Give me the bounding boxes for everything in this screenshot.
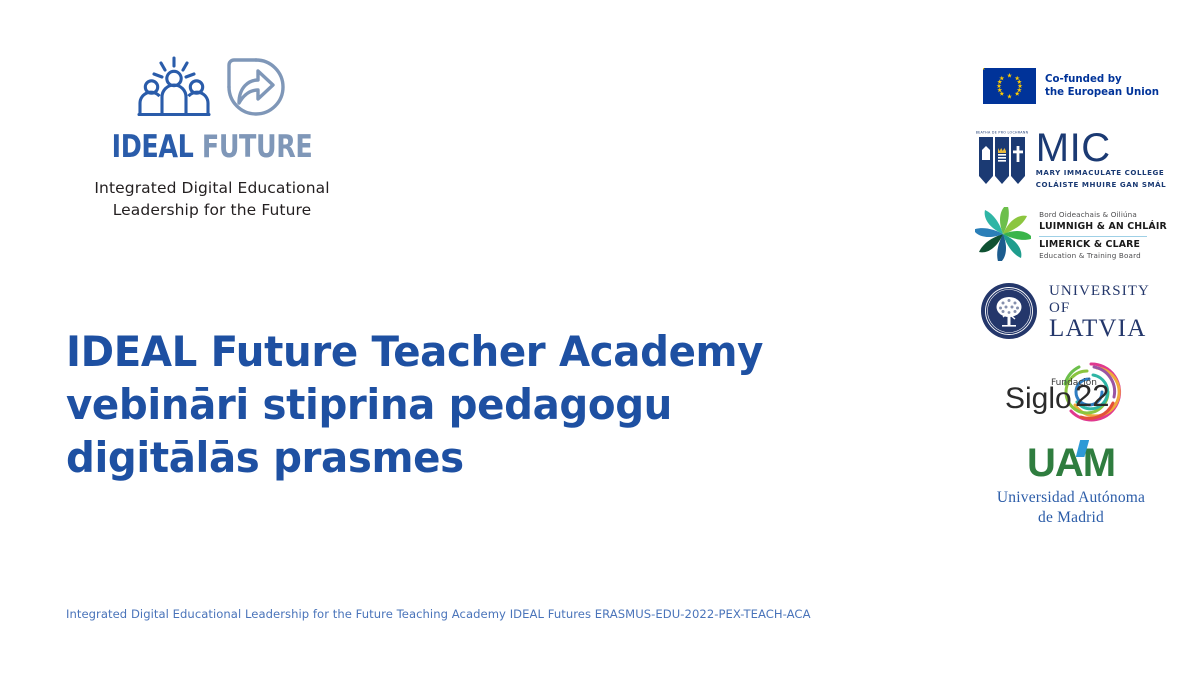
etb-line-ga-small: Bord Oideachais & Oiliúna bbox=[1039, 210, 1137, 221]
siglo-word-number: 22 bbox=[1075, 378, 1109, 413]
etb-line-en-small: Education & Training Board bbox=[1039, 251, 1141, 262]
logo-university-of-latvia: UNIVERSITAS LATVIENSIS SCIENTIAE ET PATR… bbox=[980, 282, 1162, 344]
svg-text:BEATHA DE PRO LOCHRANN: BEATHA DE PRO LOCHRANN bbox=[976, 130, 1028, 134]
people-idea-icon bbox=[137, 56, 211, 123]
logo-mary-immaculate-college: BEATHA DE PRO LOCHRANN bbox=[980, 128, 1162, 192]
eu-text-line2: the European Union bbox=[1045, 86, 1159, 99]
footer-project-reference: Integrated Digital Educational Leadershi… bbox=[66, 607, 811, 621]
latvia-line2: LATVIA bbox=[1049, 316, 1146, 342]
etb-divider bbox=[1039, 236, 1147, 237]
brand-tagline-line2: Leadership for the Future bbox=[62, 199, 362, 221]
latvia-text-block: UNIVERSITY OF LATVIA bbox=[1049, 283, 1162, 342]
uam-subtitle-line1: Universidad Autónoma bbox=[997, 488, 1145, 508]
siglo-word-main: Siglo bbox=[1005, 382, 1072, 415]
project-brand-block: IDEAL FUTURE Integrated Digital Educatio… bbox=[62, 52, 362, 222]
uam-subtitle-line2: de Madrid bbox=[997, 508, 1145, 528]
mic-letters: MIC bbox=[1036, 131, 1111, 166]
etb-text-block: Bord Oideachais & Oiliúna LUIMNIGH & AN … bbox=[1039, 210, 1167, 262]
brand-icon-group bbox=[62, 52, 362, 126]
latvia-line1: UNIVERSITY OF bbox=[1049, 283, 1162, 316]
brand-tagline: Integrated Digital Educational Leadershi… bbox=[62, 177, 362, 222]
uam-letters: UAM bbox=[1027, 443, 1115, 483]
eu-text-line1: Co-funded by bbox=[1045, 73, 1159, 86]
latvia-seal-icon: UNIVERSITAS LATVIENSIS SCIENTIAE ET PATR… bbox=[980, 282, 1038, 345]
brand-tagline-line1: Integrated Digital Educational bbox=[62, 177, 362, 199]
brand-wordmark-primary: IDEAL bbox=[112, 129, 194, 165]
share-arrow-icon bbox=[225, 56, 287, 123]
mic-subtitle-ga: COLÁISTE MHUIRE GAN SMÁL bbox=[1036, 180, 1166, 190]
eu-flag-icon bbox=[983, 68, 1036, 104]
brand-wordmark: IDEAL FUTURE bbox=[89, 132, 335, 163]
partner-logo-rail: Co-funded by the European Union BEATHA D… bbox=[980, 58, 1162, 528]
etb-line-ga-bold: LUIMNIGH & AN CHLÁIR bbox=[1039, 221, 1167, 234]
mic-text-block: MIC MARY IMMACULATE COLLEGE COLÁISTE MHU… bbox=[1036, 131, 1166, 189]
etb-swirl-icon bbox=[975, 207, 1031, 266]
uam-subtitle: Universidad Autónoma de Madrid bbox=[997, 488, 1145, 527]
logo-european-union: Co-funded by the European Union bbox=[980, 58, 1162, 114]
brand-wordmark-secondary: FUTURE bbox=[202, 129, 312, 165]
logo-uam: UAM Universidad Autónoma de Madrid bbox=[980, 442, 1162, 528]
logo-fundacion-siglo22: Fundación Siglo 22 bbox=[980, 360, 1162, 428]
etb-line-en-bold: LIMERICK & CLARE bbox=[1039, 239, 1140, 252]
eu-funding-text: Co-funded by the European Union bbox=[1045, 73, 1159, 99]
uam-letters-text: UAM bbox=[1027, 441, 1115, 485]
mic-crest-icon: BEATHA DE PRO LOCHRANN bbox=[976, 128, 1028, 193]
page-title: IDEAL Future Teacher Academy vebināri st… bbox=[66, 326, 853, 485]
logo-limerick-clare-etb: Bord Oideachais & Oiliúna LUIMNIGH & AN … bbox=[980, 208, 1162, 264]
mic-subtitle-en: MARY IMMACULATE COLLEGE bbox=[1036, 168, 1165, 178]
